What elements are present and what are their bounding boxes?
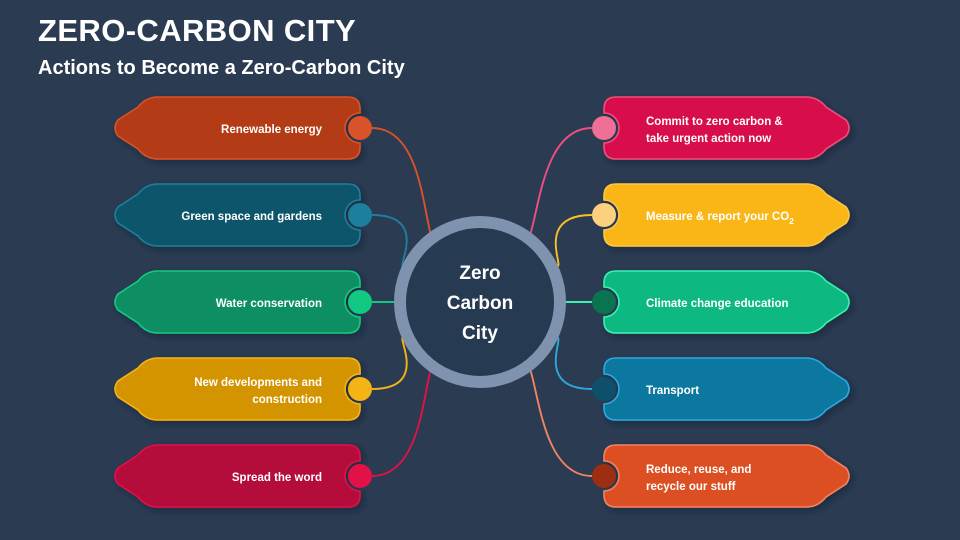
bar-label: Water conservation — [216, 298, 322, 310]
left-items-group: Renewable energyGreen space and gardensW… — [115, 97, 372, 507]
bar-label: recycle our stuff — [646, 481, 736, 493]
bar-label: construction — [252, 394, 322, 406]
bar-label: Transport — [646, 385, 699, 397]
connector-dot[interactable] — [348, 116, 372, 140]
connector-dot[interactable] — [592, 290, 616, 314]
connector-dot[interactable] — [348, 377, 372, 401]
action-item-right-2[interactable]: Measure & report your CO2 — [592, 184, 849, 246]
bar-label: Green space and gardens — [181, 211, 322, 223]
connector-dot[interactable] — [348, 290, 372, 314]
action-item-left-3[interactable]: Water conservation — [115, 271, 372, 333]
right-items-group: Commit to zero carbon &take urgent actio… — [592, 97, 849, 507]
center-label-line1: Zero — [459, 263, 500, 284]
chevron-shape[interactable] — [604, 445, 849, 507]
chevron-shape[interactable] — [604, 358, 849, 420]
connector-dot[interactable] — [592, 377, 616, 401]
connector-dot[interactable] — [348, 464, 372, 488]
bar-label: take urgent action now — [646, 133, 771, 145]
action-item-left-1[interactable]: Renewable energy — [115, 97, 372, 159]
infographic-diagram: Renewable energyGreen space and gardensW… — [0, 0, 960, 540]
slide-canvas: ZERO-CARBON CITY Actions to Become a Zer… — [0, 0, 960, 540]
bar-label: Renewable energy — [221, 124, 323, 136]
connector-dot[interactable] — [348, 203, 372, 227]
bar-label: Spread the word — [232, 472, 322, 484]
connector-dot[interactable] — [592, 464, 616, 488]
action-item-left-2[interactable]: Green space and gardens — [115, 184, 372, 246]
center-label-line3: City — [462, 323, 498, 344]
connector-dot[interactable] — [592, 116, 616, 140]
action-item-left-4[interactable]: New developments andconstruction — [115, 358, 372, 420]
bar-label: Climate change education — [646, 298, 789, 310]
action-item-right-5[interactable]: Reduce, reuse, andrecycle our stuff — [592, 445, 849, 507]
chevron-shape[interactable] — [115, 358, 360, 420]
action-item-right-4[interactable]: Transport — [592, 358, 849, 420]
chevron-shape[interactable] — [604, 97, 849, 159]
action-item-right-1[interactable]: Commit to zero carbon &take urgent actio… — [592, 97, 849, 159]
bar-label: Reduce, reuse, and — [646, 464, 751, 476]
bar-label: Commit to zero carbon & — [646, 116, 783, 128]
center-label-line2: Carbon — [447, 293, 514, 314]
action-item-left-5[interactable]: Spread the word — [115, 445, 372, 507]
center-node-group: Zero Carbon City — [400, 222, 560, 382]
connector-dot[interactable] — [592, 203, 616, 227]
bar-label: New developments and — [194, 377, 322, 389]
action-item-right-3[interactable]: Climate change education — [592, 271, 849, 333]
